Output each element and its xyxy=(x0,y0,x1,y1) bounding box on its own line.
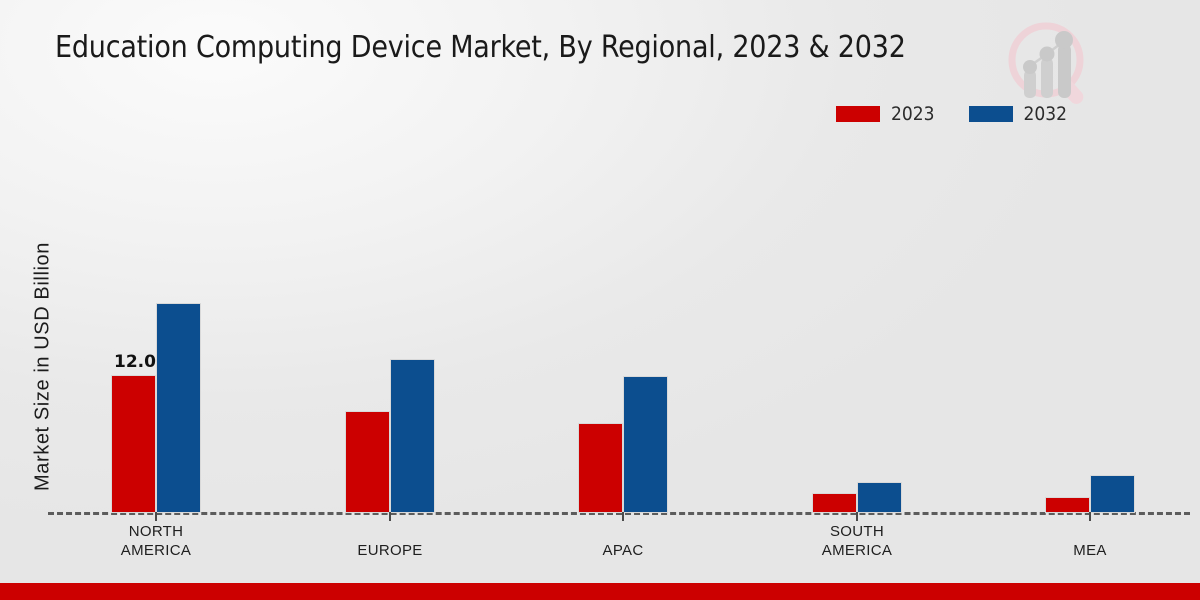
category-label-line-1: SOUTH xyxy=(777,522,937,541)
category-label-apac: APAC xyxy=(543,541,703,560)
bar-group-north-america: 12.0 NORTH AMERICA xyxy=(111,47,201,560)
category-label-line-1: EUROPE xyxy=(310,541,470,560)
bar-group-mea: MEA xyxy=(1045,47,1135,560)
bar-2023-mea[interactable] xyxy=(1045,497,1090,513)
category-label-north-america: NORTH AMERICA xyxy=(76,522,236,560)
bar-group-apac: APAC xyxy=(578,47,668,560)
bar-2032-mea[interactable] xyxy=(1090,475,1135,513)
axis-tick xyxy=(622,512,624,521)
bottom-banner xyxy=(0,583,1200,600)
category-label-line-1: NORTH xyxy=(76,522,236,541)
axis-tick xyxy=(1089,512,1091,521)
bar-2023-apac[interactable] xyxy=(578,423,623,513)
bar-2032-europe[interactable] xyxy=(390,359,435,513)
category-label-line-1: MEA xyxy=(1010,541,1170,560)
category-label-line-1: APAC xyxy=(543,541,703,560)
bar-2032-north-america[interactable] xyxy=(156,303,201,513)
plot-area: 12.0 NORTH AMERICA EUROPE APAC xyxy=(0,0,1200,560)
bar-2032-south-america[interactable] xyxy=(857,482,902,513)
axis-tick xyxy=(856,512,858,521)
category-label-line-2: AMERICA xyxy=(76,541,236,560)
bar-group-europe: EUROPE xyxy=(345,47,435,560)
bar-2023-europe[interactable] xyxy=(345,411,390,513)
bar-group-south-america: SOUTH AMERICA xyxy=(812,47,902,560)
bar-2032-apac[interactable] xyxy=(623,376,668,513)
axis-tick xyxy=(389,512,391,521)
chart-page: Education Computing Device Market, By Re… xyxy=(0,0,1200,600)
category-label-line-2: AMERICA xyxy=(777,541,937,560)
bar-2023-north-america[interactable]: 12.0 xyxy=(111,375,156,513)
bar-2023-south-america[interactable] xyxy=(812,493,857,513)
category-label-mea: MEA xyxy=(1010,541,1170,560)
category-label-europe: EUROPE xyxy=(310,541,470,560)
axis-tick xyxy=(155,512,157,521)
category-label-south-america: SOUTH AMERICA xyxy=(777,522,937,560)
